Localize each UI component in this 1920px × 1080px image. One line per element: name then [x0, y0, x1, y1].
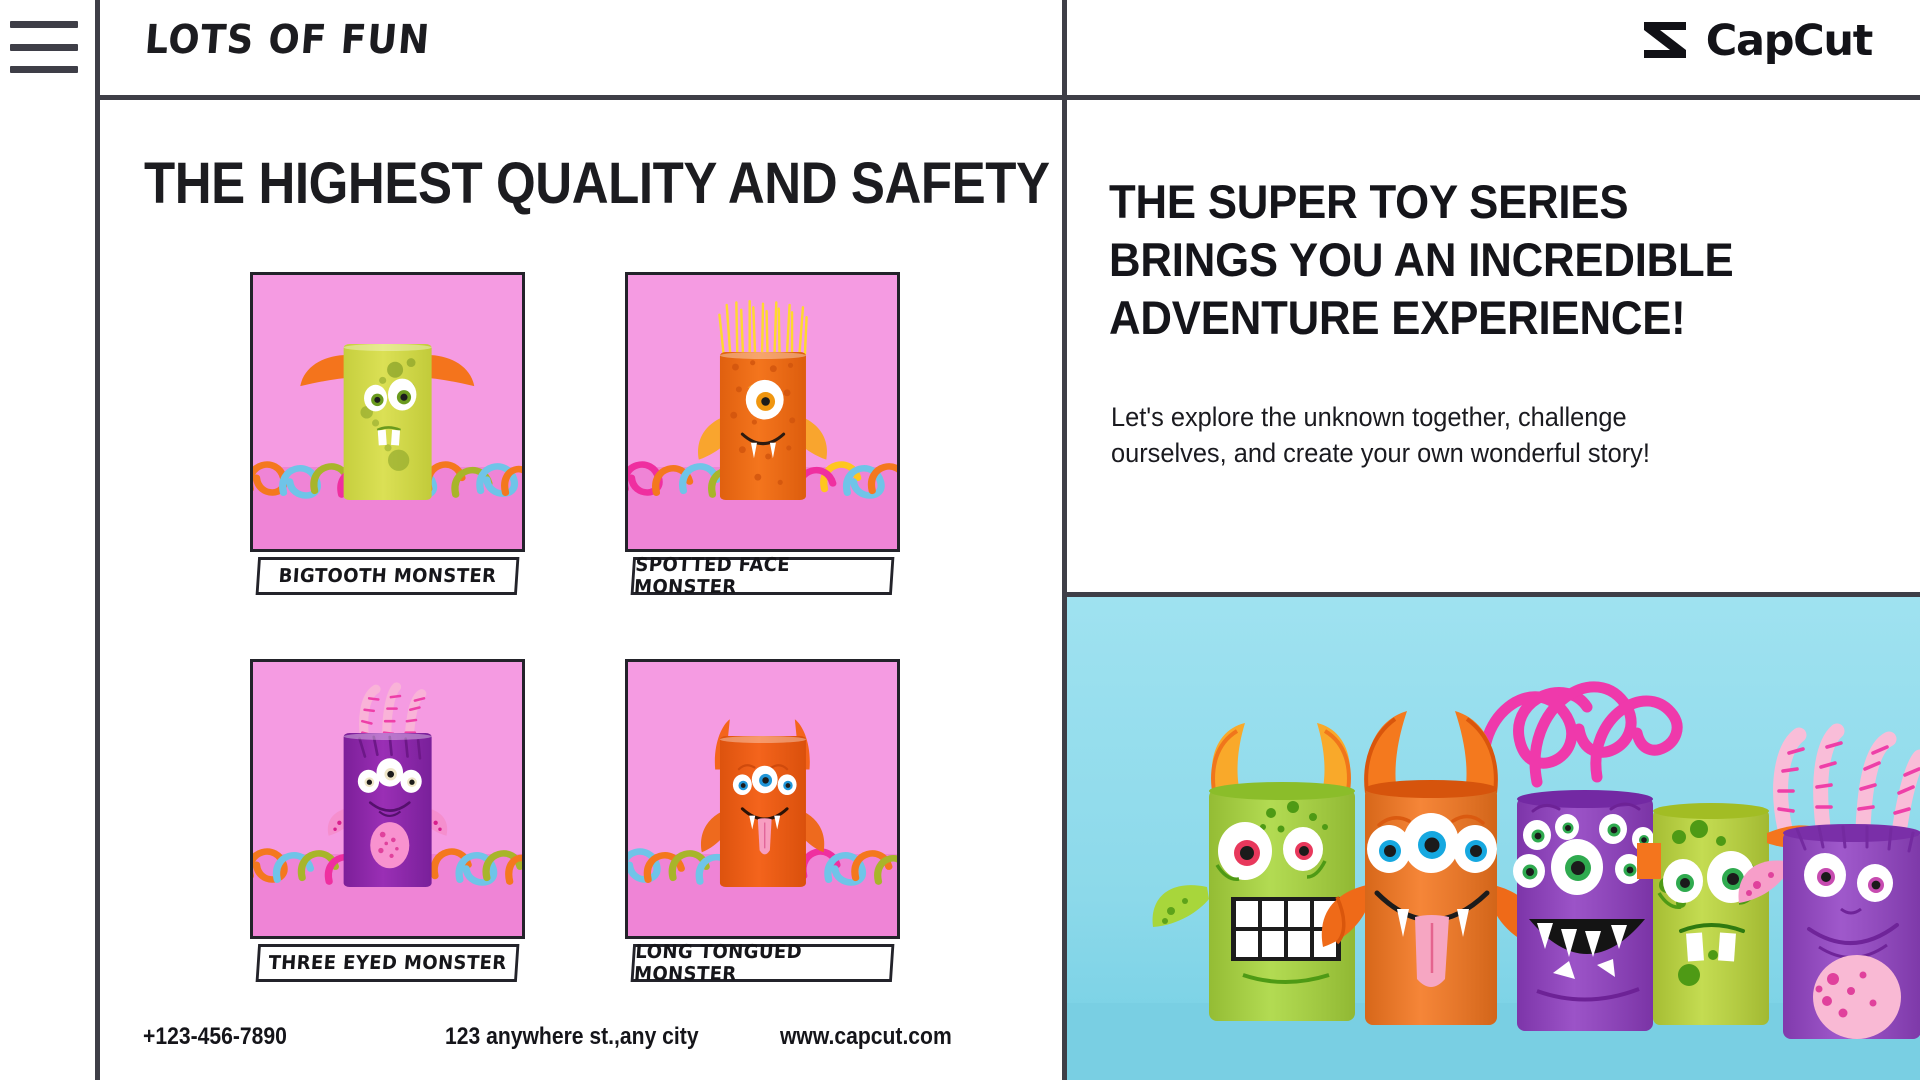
product-photo-bigtooth	[250, 272, 525, 552]
hamburger-menu-icon[interactable]	[10, 17, 78, 77]
footer-phone[interactable]: +123-456-7890	[143, 1023, 287, 1051]
hero-monsters-illustration	[1067, 597, 1920, 1080]
product-photo-long-tongued	[625, 659, 900, 939]
hamburger-bar-3	[10, 66, 78, 73]
hero-monster-purple-many-eyed	[1513, 790, 1654, 1031]
monster-body	[343, 344, 432, 500]
product-photo-three-eyed	[250, 659, 525, 939]
product-card[interactable]: THREE EYED MONSTER	[250, 659, 525, 982]
divider-vertical-mid	[1062, 0, 1067, 1080]
pink-streamers	[1483, 687, 1677, 787]
card-row-2: THREE EYED MONSTER	[250, 659, 1010, 982]
product-card[interactable]: SPOTTED FACE MONSTER	[625, 272, 900, 595]
divider-vertical-left	[95, 0, 100, 1080]
hamburger-bar-2	[10, 44, 78, 51]
section-title: THE HIGHEST QUALITY AND SAFETY	[144, 150, 1050, 217]
hero-monster-green	[1153, 723, 1355, 1021]
right-column: THE SUPER TOY SERIES BRINGS YOU AN INCRE…	[1067, 100, 1920, 592]
product-photo-spotted-face	[625, 272, 900, 552]
page-header: LOTS OF FUN CapCut	[0, 0, 1920, 95]
footer: +123-456-7890 123 anywhere st.,any city …	[100, 994, 1062, 1080]
capcut-logo[interactable]: CapCut	[1640, 16, 1872, 66]
monster-body	[719, 736, 805, 887]
hero-monster-lime	[1637, 803, 1769, 1025]
footer-website[interactable]: www.capcut.com	[780, 1023, 952, 1051]
hero-photo	[1067, 597, 1920, 1080]
capcut-wordmark: CapCut	[1706, 16, 1872, 66]
divider-horizontal-hero	[1062, 592, 1920, 597]
hero-title: THE SUPER TOY SERIES BRINGS YOU AN INCRE…	[1109, 173, 1797, 346]
divider-horizontal-header	[95, 95, 1920, 100]
product-card[interactable]: BIGTOOTH MONSTER	[250, 272, 525, 595]
monster-body	[343, 733, 432, 886]
product-card[interactable]: LONG TONGUED MONSTER	[625, 659, 900, 982]
brand-title: LOTS OF FUN	[143, 17, 432, 63]
footer-address: 123 anywhere st.,any city	[445, 1023, 699, 1051]
left-column: THE HIGHEST QUALITY AND SAFETY	[100, 100, 1062, 1080]
product-caption: SPOTTED FACE MONSTER	[631, 557, 895, 595]
product-card-grid: BIGTOOTH MONSTER	[250, 272, 1010, 1046]
product-caption: LONG TONGUED MONSTER	[631, 944, 895, 982]
capcut-hourglass-icon	[1640, 16, 1690, 66]
hero-subtitle: Let's explore the unknown together, chal…	[1111, 400, 1694, 472]
hamburger-bar-1	[10, 21, 78, 28]
monster-body	[719, 352, 805, 500]
product-caption: THREE EYED MONSTER	[256, 944, 520, 982]
card-row-1: BIGTOOTH MONSTER	[250, 272, 1010, 595]
product-caption: BIGTOOTH MONSTER	[256, 557, 520, 595]
